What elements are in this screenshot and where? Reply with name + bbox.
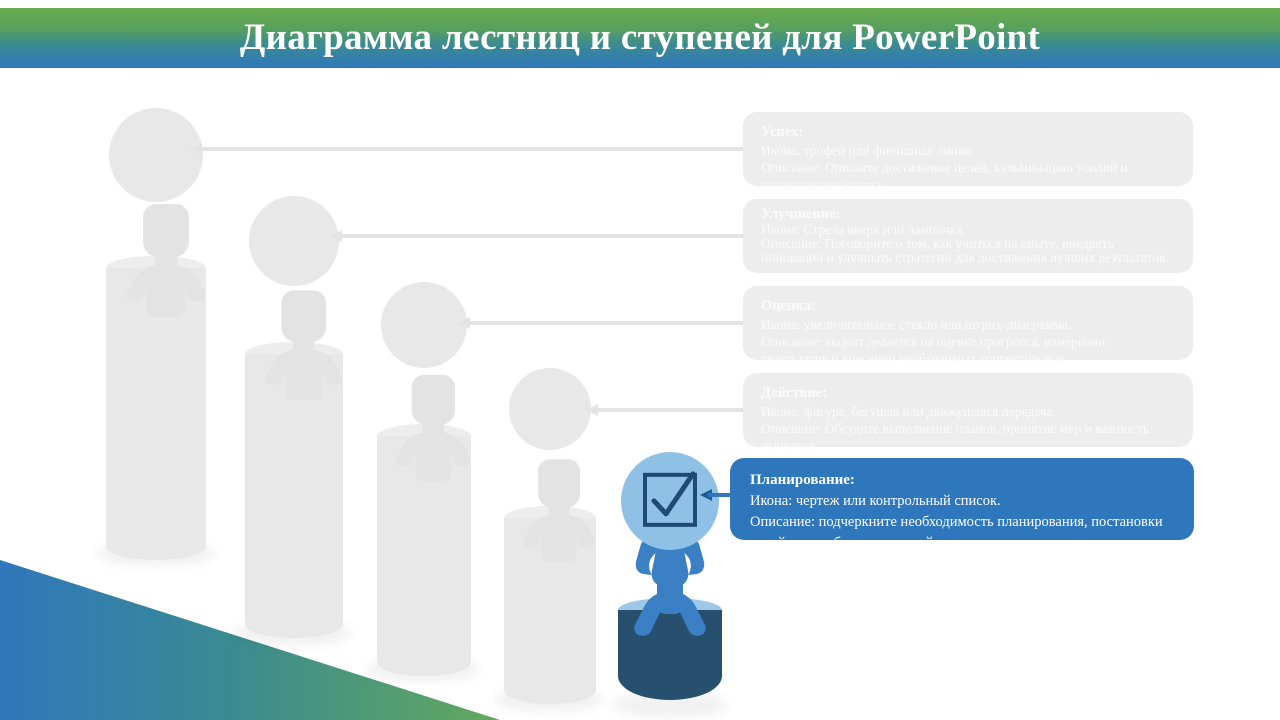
step-title: Улучшение: [761, 207, 1175, 222]
figure-success[interactable] [88, 108, 224, 560]
step-title: Оценка: [761, 297, 1175, 315]
step-icon-line: Икона: увеличительное стекло или штрих-д… [761, 316, 1175, 333]
step-card-evaluation[interactable]: Оценка: Икона: увеличительное стекло или… [743, 286, 1193, 360]
figure-person-1 [88, 196, 224, 376]
step-card-action[interactable]: Действие: Икона: фигура, бегущая или дви… [743, 373, 1193, 447]
step-icon-line: Икона: чертеж или контрольный список. [750, 491, 1174, 512]
step-icon-line: Икона: Стрела вверх или лампочка. [761, 223, 1175, 237]
step-card-improvement[interactable]: Улучшение: Икона: Стрела вверх или лампо… [743, 199, 1193, 273]
arrow-line [468, 321, 743, 325]
step-icon-line: Икона: фигура, бегущая или движущаяся пе… [761, 403, 1175, 420]
checkbox-checked-icon [641, 471, 699, 529]
step-description-line: Описание: акцент делается на оценке прог… [761, 333, 1175, 367]
arrow-line [340, 234, 743, 238]
figure-sphere-2 [249, 196, 339, 286]
figure-improvement[interactable] [228, 196, 360, 638]
arrow-line [200, 147, 743, 151]
step-title: Успех: [761, 123, 1175, 141]
arrow-improvement [330, 230, 743, 242]
step-title: Планирование: [750, 470, 1174, 490]
arrow-action [586, 404, 743, 416]
page-title: Диаграмма лестниц и ступеней для PowerPo… [0, 8, 1280, 68]
step-card-success[interactable]: Успех: Икона: трофей или финишная линия.… [743, 112, 1193, 186]
step-title: Действие: [761, 384, 1175, 402]
step-description-line: Описание: Опишите достижение целей, куль… [761, 159, 1175, 193]
arrow-evaluation [458, 317, 743, 329]
figure-sphere-5 [621, 452, 719, 550]
figure-action[interactable] [488, 368, 612, 704]
figure-sphere-3 [381, 282, 467, 368]
figure-person-2 [228, 282, 360, 458]
slide-canvas: Диаграмма лестниц и ступеней для PowerPo… [0, 0, 1280, 720]
step-description-line: Описание: Обсудите выполнение планов, пр… [761, 420, 1175, 454]
figure-evaluation[interactable] [360, 282, 488, 676]
figure-sphere-1 [109, 108, 203, 202]
figure-sphere-4 [509, 368, 591, 450]
figure-person-4 [488, 450, 612, 618]
arrow-success [190, 143, 743, 155]
arrow-line [596, 408, 743, 412]
step-icon-line: Икона: трофей или финишная линия. [761, 142, 1175, 159]
step-description-line: Описание: подчеркните необходимость план… [750, 512, 1174, 554]
step-description-line: Описание: Поговорите о том, как учиться … [761, 237, 1175, 265]
step-card-planning[interactable]: Планирование: Икона: чертеж или контроль… [730, 458, 1194, 540]
figure-person-3 [360, 366, 488, 538]
